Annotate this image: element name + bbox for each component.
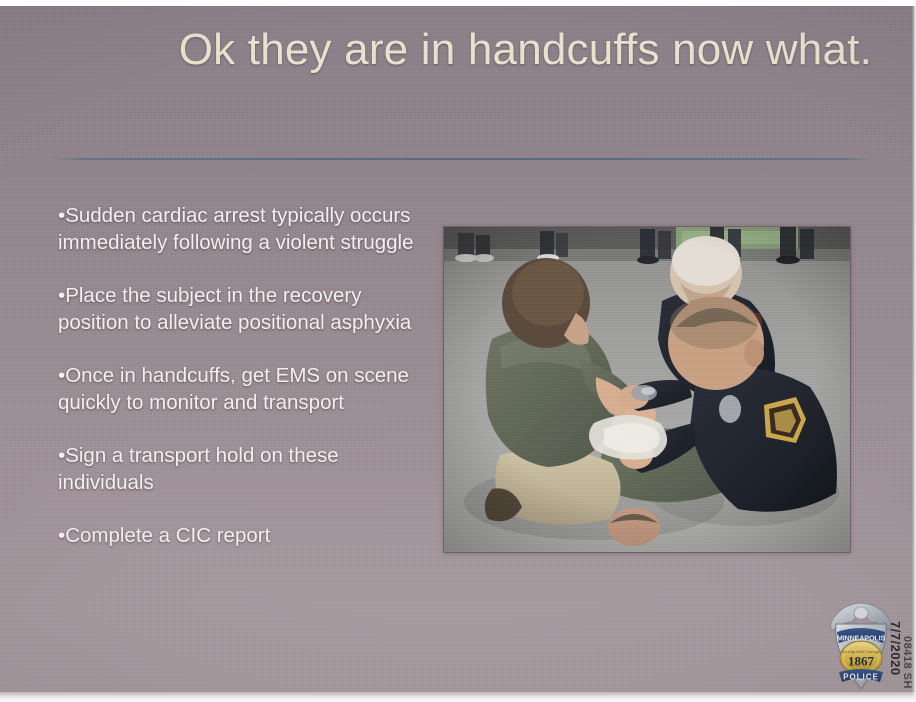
scan-bottom-margin — [0, 692, 916, 702]
slide-title: Ok they are in handcuffs now what. — [60, 24, 872, 76]
training-demonstration-photo — [444, 227, 850, 552]
bullet-item-1: •Sudden cardiac arrest typically occurs … — [58, 202, 418, 256]
photo-illustration — [444, 227, 850, 552]
bullet-text: Sudden cardiac arrest typically occurs i… — [58, 204, 414, 254]
bullet-item-5: •Complete a CIC report — [58, 522, 418, 549]
bullet-item-3: •Once in handcuffs, get EMS on scene qui… — [58, 362, 418, 416]
presentation-slide: Ok they are in handcuffs now what. •Sudd… — [0, 6, 916, 692]
badge-bottom-banner-text: POLICE — [843, 673, 879, 682]
scanned-page: Ok they are in handcuffs now what. •Sudd… — [0, 0, 916, 702]
badge-year-text: 1867 — [848, 654, 875, 669]
bullet-text: Sign a transport hold on these individua… — [58, 444, 339, 494]
badge-svg: MINNEAPOLIS Serving with Courage 1867 PO… — [826, 600, 896, 692]
minneapolis-police-badge-icon: MINNEAPOLIS Serving with Courage 1867 PO… — [826, 600, 896, 692]
bullet-item-2: •Place the subject in the recovery posit… — [58, 282, 418, 336]
scan-right-margin — [912, 0, 916, 702]
bullet-list: •Sudden cardiac arrest typically occurs … — [58, 202, 418, 549]
bullet-text: Place the subject in the recovery positi… — [58, 284, 411, 334]
bullet-text: Once in handcuffs, get EMS on scene quic… — [58, 364, 409, 414]
scan-top-margin — [0, 0, 916, 6]
bullet-text: Complete a CIC report — [65, 524, 270, 547]
title-underline-rule — [52, 158, 874, 160]
bullet-item-4: •Sign a transport hold on these individu… — [58, 442, 418, 496]
